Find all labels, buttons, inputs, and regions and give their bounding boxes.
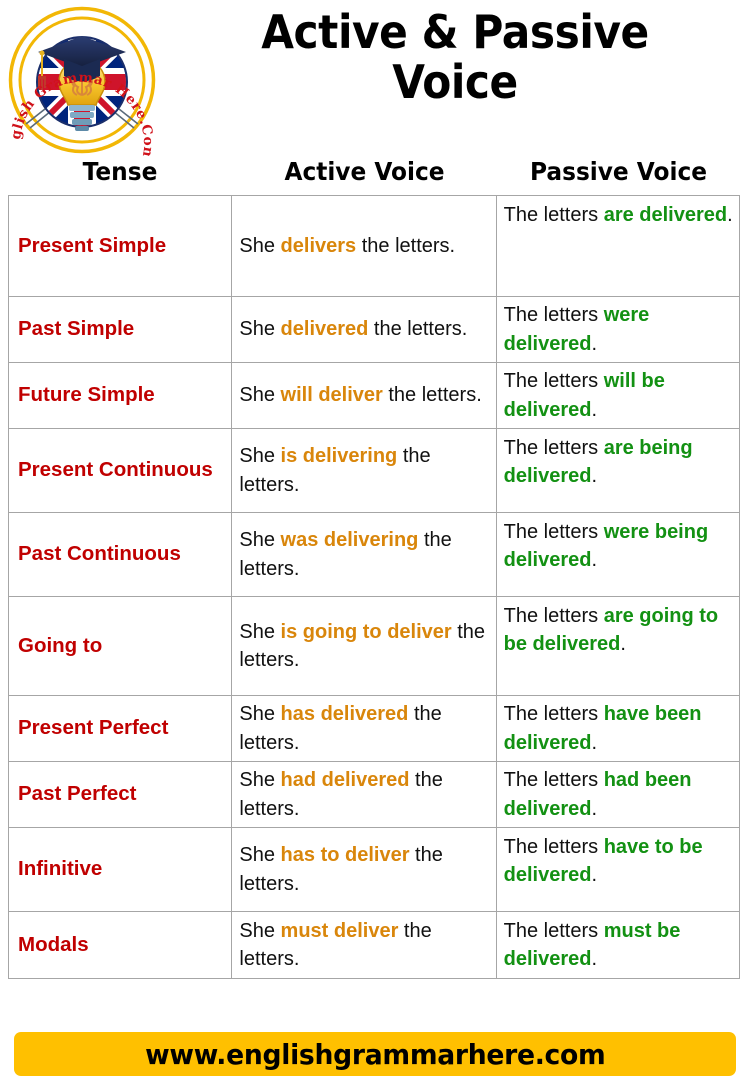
sentence-highlight: has delivered — [281, 703, 409, 725]
sentence: She delivered the letters. — [239, 315, 489, 343]
cell-tense: Past Simple — [9, 297, 232, 362]
sentence-suffix: the letters. — [356, 235, 455, 257]
cell-active-voice: She had delivered the letters. — [232, 762, 496, 827]
cell-tense: Modals — [9, 912, 232, 978]
sentence-prefix: The letters — [504, 204, 604, 226]
sentence-highlight: must deliver — [281, 920, 399, 942]
sentence-highlight: are delivered — [604, 204, 727, 226]
table-row: Past ContinuousShe was delivering the le… — [9, 513, 739, 597]
sentence-prefix: She — [239, 769, 280, 791]
tense-label: Present Simple — [18, 234, 166, 259]
tense-label: Past Simple — [18, 317, 134, 342]
cell-active-voice: She is going to deliver the letters. — [232, 597, 496, 695]
sentence: She is delivering the letters. — [239, 442, 489, 499]
sentence: She is going to deliver the letters. — [239, 618, 489, 675]
cell-passive-voice: The letters are delivered. — [497, 196, 739, 296]
site-logo: English Grammar Here.Com — [6, 4, 158, 156]
page-title: Active & Passive Voice — [193, 8, 717, 107]
sentence: The letters were delivered. — [504, 301, 733, 358]
column-header-active: Active Voice — [241, 155, 487, 193]
table-column-headers: Tense Active Voice Passive Voice — [8, 155, 740, 193]
sentence-suffix: . — [620, 633, 626, 655]
cell-tense: Future Simple — [9, 363, 232, 428]
table-row: ModalsShe must deliver the letters.The l… — [9, 912, 739, 978]
sentence-suffix: . — [591, 864, 597, 886]
sentence-prefix: The letters — [504, 703, 604, 725]
cell-tense: Going to — [9, 597, 232, 695]
sentence-suffix: the letters. — [383, 384, 482, 406]
sentence-prefix: The letters — [504, 920, 604, 942]
sentence-suffix: . — [727, 204, 733, 226]
sentence: The letters have to be delivered. — [504, 833, 733, 890]
table-row: Present SimpleShe delivers the letters.T… — [9, 196, 739, 297]
sentence-suffix: . — [591, 948, 597, 970]
sentence-highlight: was delivering — [281, 529, 419, 551]
sentence-prefix: The letters — [504, 521, 604, 543]
sentence: She will deliver the letters. — [239, 381, 489, 409]
cell-tense: Present Continuous — [9, 429, 232, 512]
table-row: Past SimpleShe delivered the letters.The… — [9, 297, 739, 363]
sentence: The letters must be delivered. — [504, 917, 733, 974]
sentence: She was delivering the letters. — [239, 526, 489, 583]
sentence: The letters have been delivered. — [504, 700, 733, 757]
sentence: The letters are being delivered. — [504, 434, 733, 491]
sentence: The letters had been delivered. — [504, 766, 733, 823]
active-passive-voice-table: Present SimpleShe delivers the letters.T… — [8, 195, 740, 979]
cell-tense: Present Perfect — [9, 696, 232, 761]
cell-active-voice: She has to deliver the letters. — [232, 828, 496, 911]
sentence-suffix: . — [591, 549, 597, 571]
sentence-prefix: She — [239, 920, 280, 942]
page-header: English Grammar Here.Com Active & Passiv… — [0, 0, 750, 152]
cell-tense: Infinitive — [9, 828, 232, 911]
sentence-highlight: delivers — [281, 235, 357, 257]
cell-active-voice: She will deliver the letters. — [232, 363, 496, 428]
cell-passive-voice: The letters were being delivered. — [497, 513, 739, 596]
tense-label: Modals — [18, 933, 89, 958]
sentence: She had delivered the letters. — [239, 766, 489, 823]
cell-active-voice: She delivered the letters. — [232, 297, 496, 362]
sentence-suffix: . — [591, 399, 597, 421]
website-url: www.englishgrammarhere.com — [145, 1038, 605, 1071]
tense-label: Infinitive — [18, 857, 102, 882]
sentence-prefix: The letters — [504, 370, 604, 392]
sentence-prefix: She — [239, 318, 280, 340]
cell-active-voice: She is delivering the letters. — [232, 429, 496, 512]
sentence-highlight: will deliver — [281, 384, 383, 406]
table-row: InfinitiveShe has to deliver the letters… — [9, 828, 739, 912]
sentence-highlight: had delivered — [281, 769, 410, 791]
sentence-prefix: The letters — [504, 769, 604, 791]
website-footer-bar[interactable]: www.englishgrammarhere.com — [14, 1032, 736, 1076]
sentence-prefix: She — [239, 703, 280, 725]
sentence-suffix: . — [591, 798, 597, 820]
table-row: Present ContinuousShe is delivering the … — [9, 429, 739, 513]
sentence: She has to deliver the letters. — [239, 841, 489, 898]
sentence-highlight: delivered — [281, 318, 369, 340]
table-row: Future SimpleShe will deliver the letter… — [9, 363, 739, 429]
cell-passive-voice: The letters have been delivered. — [497, 696, 739, 761]
tense-label: Going to — [18, 634, 102, 659]
sentence: The letters are going to be delivered. — [504, 602, 733, 659]
cell-active-voice: She must deliver the letters. — [232, 912, 496, 978]
cell-tense: Past Perfect — [9, 762, 232, 827]
sentence: She delivers the letters. — [239, 232, 489, 260]
table-row: Present PerfectShe has delivered the let… — [9, 696, 739, 762]
sentence-highlight: is delivering — [281, 445, 398, 467]
cell-tense: Past Continuous — [9, 513, 232, 596]
sentence-prefix: She — [239, 384, 280, 406]
tense-label: Present Perfect — [18, 716, 168, 741]
sentence-highlight: is going to deliver — [281, 621, 452, 643]
cell-passive-voice: The letters were delivered. — [497, 297, 739, 362]
cell-tense: Present Simple — [9, 196, 232, 296]
sentence: She must deliver the letters. — [239, 917, 489, 974]
cell-active-voice: She delivers the letters. — [232, 196, 496, 296]
sentence-prefix: She — [239, 445, 280, 467]
cell-active-voice: She was delivering the letters. — [232, 513, 496, 596]
cell-passive-voice: The letters will be delivered. — [497, 363, 739, 428]
sentence-suffix: the letters. — [368, 318, 467, 340]
cell-passive-voice: The letters have to be delivered. — [497, 828, 739, 911]
table-row: Past PerfectShe had delivered the letter… — [9, 762, 739, 828]
sentence-prefix: She — [239, 621, 280, 643]
column-header-passive: Passive Voice — [506, 155, 732, 193]
tense-label: Future Simple — [18, 383, 155, 408]
cell-active-voice: She has delivered the letters. — [232, 696, 496, 761]
sentence-highlight: has to deliver — [281, 844, 410, 866]
sentence-suffix: . — [591, 465, 597, 487]
sentence-prefix: She — [239, 844, 280, 866]
sentence-prefix: The letters — [504, 437, 604, 459]
sentence: The letters were being delivered. — [504, 518, 733, 575]
tense-label: Present Continuous — [18, 458, 213, 483]
tense-label: Past Continuous — [18, 542, 181, 567]
cell-passive-voice: The letters are being delivered. — [497, 429, 739, 512]
sentence-suffix: . — [591, 732, 597, 754]
table-row: Going toShe is going to deliver the lett… — [9, 597, 739, 696]
sentence-prefix: The letters — [504, 836, 604, 858]
sentence: She has delivered the letters. — [239, 700, 489, 757]
cell-passive-voice: The letters must be delivered. — [497, 912, 739, 978]
sentence-prefix: She — [239, 529, 280, 551]
sentence-suffix: . — [591, 333, 597, 355]
sentence: The letters will be delivered. — [504, 367, 733, 424]
column-header-tense: Tense — [16, 155, 224, 193]
tense-label: Past Perfect — [18, 782, 137, 807]
sentence-prefix: The letters — [504, 304, 604, 326]
sentence-prefix: She — [239, 235, 280, 257]
sentence: The letters are delivered. — [504, 201, 733, 229]
cell-passive-voice: The letters had been delivered. — [497, 762, 739, 827]
sentence-prefix: The letters — [504, 605, 604, 627]
cell-passive-voice: The letters are going to be delivered. — [497, 597, 739, 695]
